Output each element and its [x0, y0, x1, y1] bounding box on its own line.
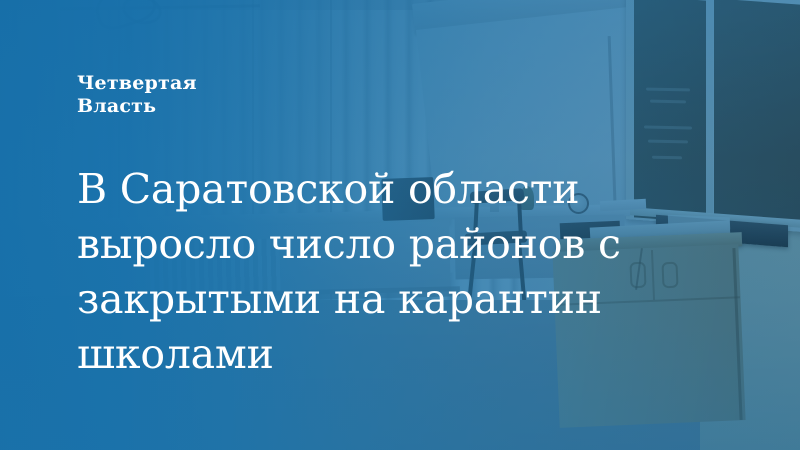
headline-line: В Саратовской области	[77, 162, 677, 217]
logo-line-2: Власть	[77, 95, 197, 118]
headline-line: закрытыми на карантин	[77, 272, 677, 327]
site-logo[interactable]: Четвертая Власть	[77, 72, 197, 118]
headline-line: выросло число районов с	[77, 217, 677, 272]
article-preview-card: Четвертая Власть В Саратовской области в…	[0, 0, 800, 450]
logo-line-1: Четвертая	[77, 72, 197, 95]
headline-line: школами	[77, 327, 677, 382]
card-content: Четвертая Власть В Саратовской области в…	[0, 0, 800, 450]
article-headline[interactable]: В Саратовской области выросло число райо…	[77, 162, 677, 382]
